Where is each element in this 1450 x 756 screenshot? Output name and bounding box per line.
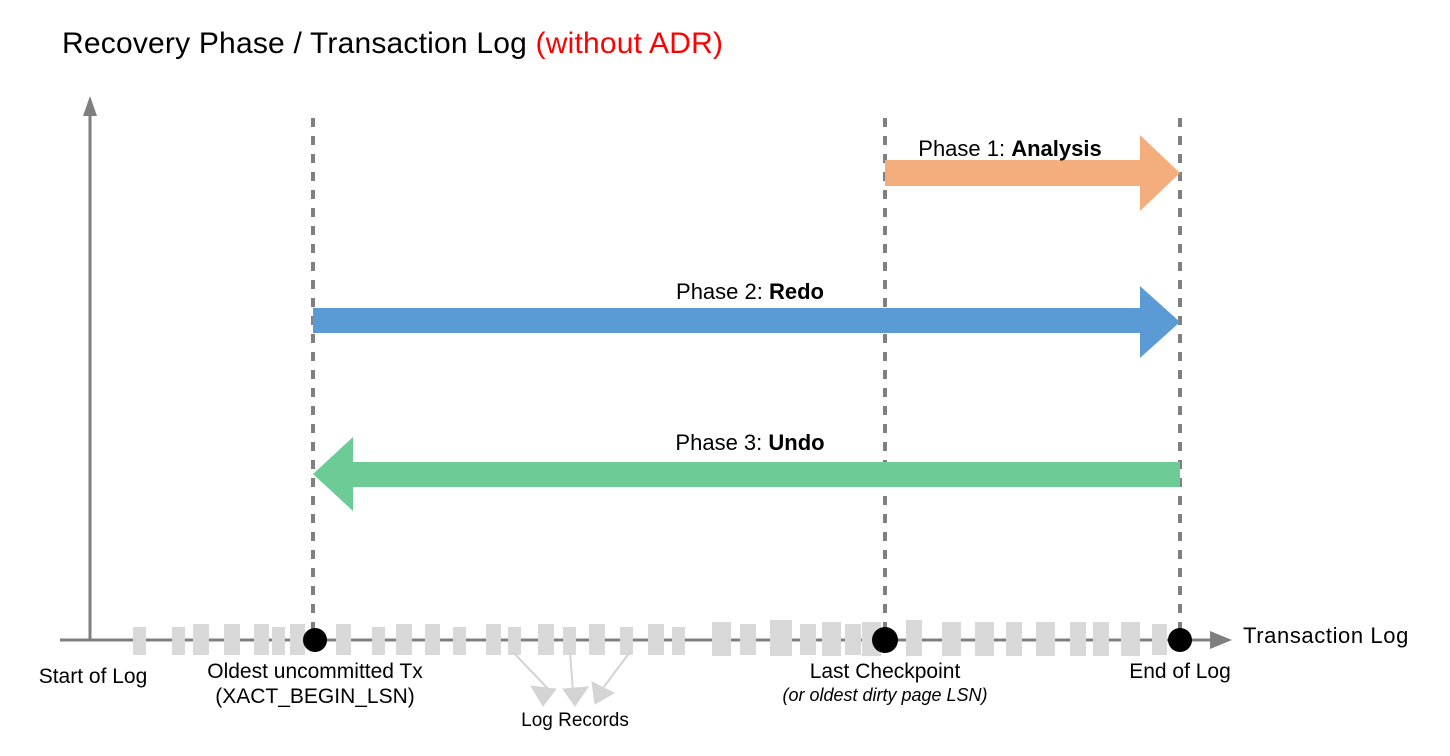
diagram-canvas: Recovery Phase / Transaction Log (withou… <box>0 0 1450 756</box>
log-records-callout-arrows <box>513 652 630 706</box>
x-axis-label: Transaction Log <box>1243 623 1409 649</box>
marker-dot-last-checkpoint <box>872 627 898 653</box>
log-records-annotation: Log Records <box>521 710 629 732</box>
phase-2-label: Phase 2: Redo <box>676 279 824 305</box>
phase-1-label: Phase 1: Analysis <box>918 136 1101 162</box>
marker-dot-end-of-log <box>1168 628 1192 652</box>
phase-3-name: Undo <box>768 430 824 455</box>
page-title: Recovery Phase / Transaction Log (withou… <box>62 26 723 61</box>
marker-label-oldest-tx-text: Oldest uncommitted Tx <box>207 660 423 683</box>
phase-3-prefix: Phase 3: <box>675 430 768 455</box>
phase-2-name: Redo <box>769 279 824 304</box>
marker-label-start-of-log: Start of Log <box>39 665 148 690</box>
marker-label-start-of-log-text: Start of Log <box>39 665 148 688</box>
phase-1-name: Analysis <box>1011 136 1102 161</box>
marker-label-last-checkpoint: Last Checkpoint(or oldest dirty page LSN… <box>782 660 987 706</box>
marker-sublabel-oldest-tx: (XACT_BEGIN_LSN) <box>215 685 415 708</box>
marker-label-end-of-log-text: End of Log <box>1129 660 1231 683</box>
marker-dot-oldest-tx <box>303 628 327 652</box>
page-title-accent: (without ADR) <box>536 27 724 60</box>
recovery-phase-diagram <box>0 0 1450 756</box>
y-axis <box>83 96 97 640</box>
phase-3-label: Phase 3: Undo <box>675 430 824 456</box>
phase-1-prefix: Phase 1: <box>918 136 1011 161</box>
marker-label-last-checkpoint-text: Last Checkpoint <box>810 660 961 683</box>
log-record-blocks <box>133 620 1167 656</box>
page-title-main: Recovery Phase / Transaction Log <box>62 27 536 60</box>
phase-2-prefix: Phase 2: <box>676 279 769 304</box>
marker-label-oldest-tx: Oldest uncommitted Tx(XACT_BEGIN_LSN) <box>207 660 423 710</box>
marker-label-end-of-log: End of Log <box>1129 660 1231 685</box>
marker-sublabel-last-checkpoint: (or oldest dirty page LSN) <box>782 685 987 706</box>
